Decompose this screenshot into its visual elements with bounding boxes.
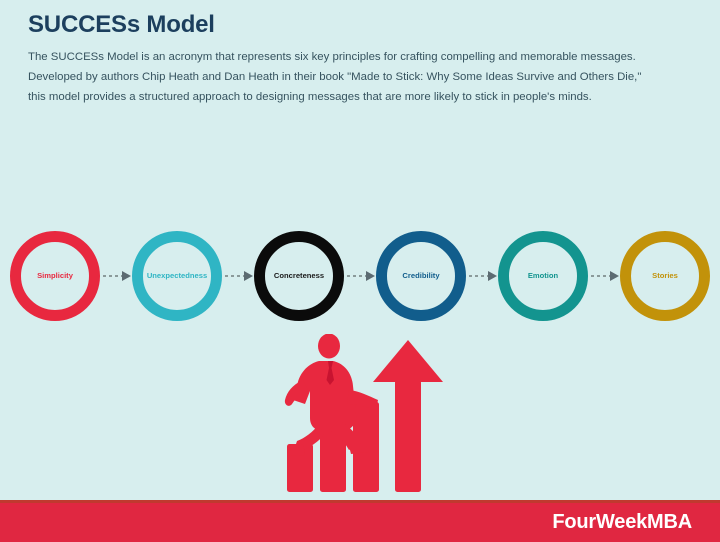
connector-arrow-2	[223, 271, 253, 281]
figure-torso	[293, 361, 356, 431]
node-credibility[interactable]: Credibility	[376, 231, 466, 321]
arrow-head-icon	[488, 271, 497, 281]
brand-logo-text: FourWeekMBA	[552, 511, 692, 534]
slide-canvas: SUCCESs Model The SUCCESs Model is an ac…	[0, 0, 720, 542]
growth-illustration	[283, 334, 453, 494]
node-simplicity[interactable]: Simplicity	[10, 231, 100, 321]
node-unexpectedness[interactable]: Unexpectedness	[132, 231, 222, 321]
arrow-head-icon	[610, 271, 619, 281]
arrow-head-icon	[244, 271, 253, 281]
page-title: SUCCESs Model	[28, 12, 668, 38]
connector-arrow-5	[589, 271, 619, 281]
businessman-climbing-bars-icon	[283, 334, 453, 494]
footer-bar: FourWeekMBA	[0, 503, 720, 542]
connector-dots	[469, 275, 488, 277]
up-arrow-head	[373, 340, 443, 382]
figure-head	[318, 334, 340, 359]
connector-arrow-3	[345, 271, 375, 281]
connector-dots	[103, 275, 122, 277]
node-label-unexpectedness: Unexpectedness	[144, 272, 210, 280]
node-label-emotion: Emotion	[525, 272, 561, 280]
node-concreteness[interactable]: Concreteness	[254, 231, 344, 321]
header-block: SUCCESs Model The SUCCESs Model is an ac…	[28, 12, 668, 107]
arrow-head-icon	[366, 271, 375, 281]
node-stories[interactable]: Stories	[620, 231, 710, 321]
growth-bar-4	[395, 380, 421, 492]
description-paragraph: The SUCCESs Model is an acronym that rep…	[28, 47, 648, 107]
connector-arrow-4	[467, 271, 497, 281]
node-emotion[interactable]: Emotion	[498, 231, 588, 321]
node-label-stories: Stories	[649, 272, 681, 280]
node-label-concreteness: Concreteness	[271, 272, 327, 280]
connector-dots	[225, 275, 244, 277]
connector-dots	[347, 275, 366, 277]
node-label-credibility: Credibility	[399, 272, 442, 280]
arrow-head-icon	[122, 271, 131, 281]
connector-arrow-1	[101, 271, 131, 281]
node-label-simplicity: Simplicity	[34, 272, 76, 280]
connector-dots	[591, 275, 610, 277]
process-chain: Simplicity Unexpectedness Concreteness C…	[0, 228, 720, 324]
